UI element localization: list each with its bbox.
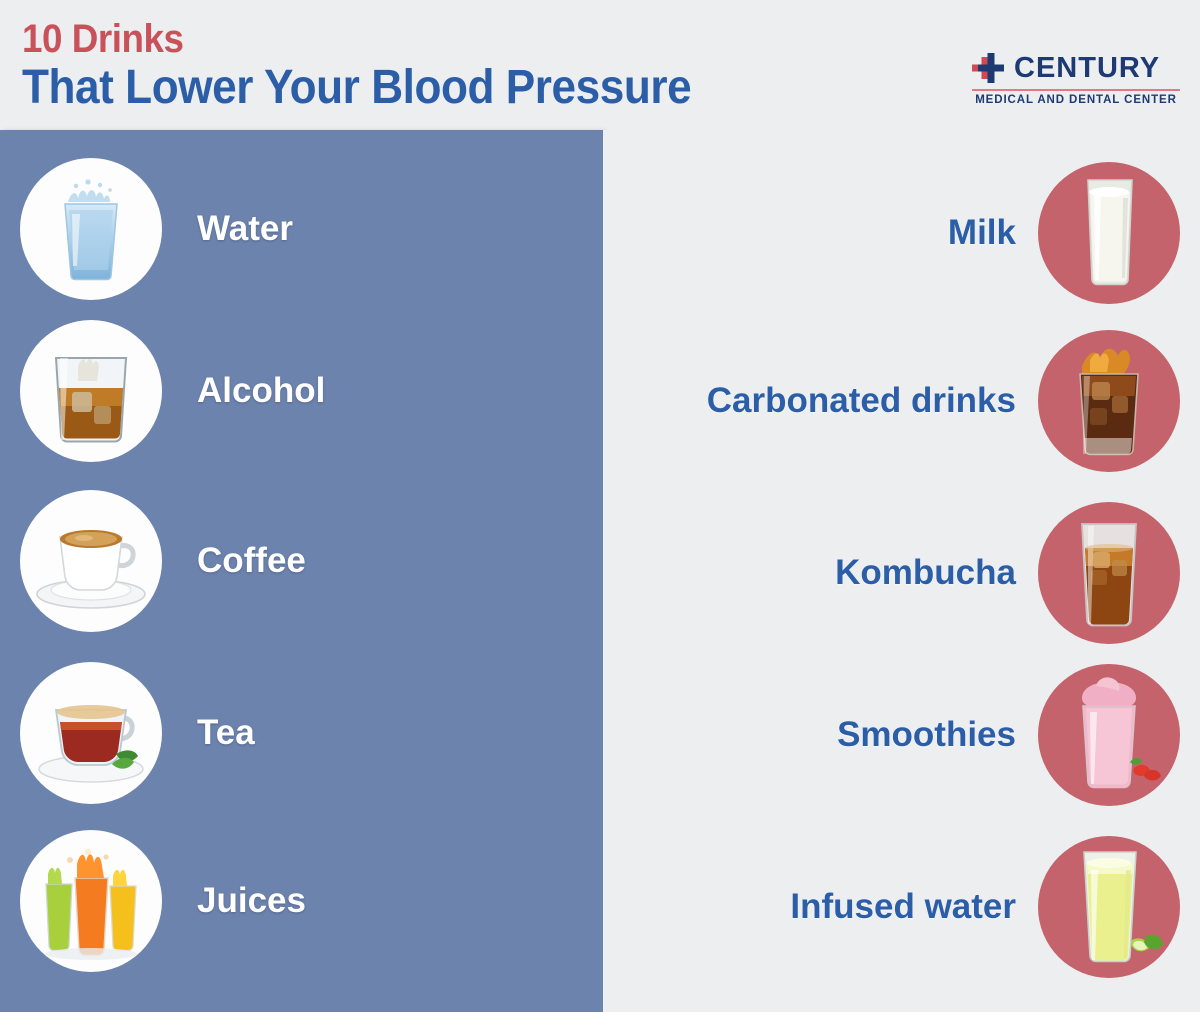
title-line-one: 10 Drinks bbox=[22, 18, 691, 60]
glass-of-water-icon bbox=[20, 158, 162, 300]
list-item-label: Alcohol bbox=[197, 371, 325, 411]
list-item[interactable]: Carbonated drinks bbox=[620, 330, 1180, 472]
list-item[interactable]: Water bbox=[20, 158, 580, 300]
page-title: 10 Drinks That Lower Your Blood Pressure bbox=[22, 18, 749, 114]
list-item[interactable]: Coffee bbox=[20, 490, 580, 632]
cola-glass-icon bbox=[1038, 330, 1180, 472]
logo-tagline: MEDICAL AND DENTAL CENTER bbox=[972, 94, 1180, 106]
strawberry-smoothie-icon bbox=[1038, 664, 1180, 806]
infographic-canvas: 10 Drinks That Lower Your Blood Pressure… bbox=[0, 0, 1200, 1012]
glass-of-milk-icon bbox=[1038, 162, 1180, 304]
logo-brand-text: CENTURY bbox=[1014, 53, 1160, 83]
list-item[interactable]: Alcohol bbox=[20, 320, 580, 462]
list-item-label: Milk bbox=[948, 213, 1016, 253]
tea-cup-icon bbox=[20, 662, 162, 804]
list-item[interactable]: Milk bbox=[620, 162, 1180, 304]
brand-logo[interactable]: CENTURY MEDICAL AND DENTAL CENTER bbox=[972, 50, 1182, 112]
list-item-label: Smoothies bbox=[837, 715, 1016, 755]
logo-primary-row: CENTURY bbox=[972, 50, 1182, 86]
lemonade-glass-icon bbox=[1038, 836, 1180, 978]
list-item[interactable]: Smoothies bbox=[620, 664, 1180, 806]
list-item-label: Kombucha bbox=[835, 553, 1016, 593]
list-item[interactable]: Juices bbox=[20, 830, 580, 972]
list-item-label: Water bbox=[197, 209, 293, 249]
list-item[interactable]: Kombucha bbox=[620, 502, 1180, 644]
medical-cross-icon bbox=[972, 53, 1004, 83]
list-item-label: Coffee bbox=[197, 541, 306, 581]
juice-glasses-icon bbox=[20, 830, 162, 972]
title-line-two: That Lower Your Blood Pressure bbox=[22, 62, 691, 114]
right-panel-bad-drinks: Milk Carbonated drinks bbox=[603, 130, 1200, 1012]
list-item[interactable]: Tea bbox=[20, 662, 580, 804]
header: 10 Drinks That Lower Your Blood Pressure… bbox=[0, 0, 1200, 130]
coffee-cup-icon bbox=[20, 490, 162, 632]
list-item-label: Infused water bbox=[790, 887, 1016, 927]
list-item-label: Tea bbox=[197, 713, 255, 753]
iced-tea-glass-icon bbox=[1038, 502, 1180, 644]
whiskey-glass-icon bbox=[20, 320, 162, 462]
list-item-label: Carbonated drinks bbox=[707, 381, 1016, 421]
logo-divider bbox=[972, 89, 1180, 91]
left-panel-good-drinks: Water Alcohol bbox=[0, 130, 603, 1012]
list-item-label: Juices bbox=[197, 881, 306, 921]
list-item[interactable]: Infused water bbox=[620, 836, 1180, 978]
